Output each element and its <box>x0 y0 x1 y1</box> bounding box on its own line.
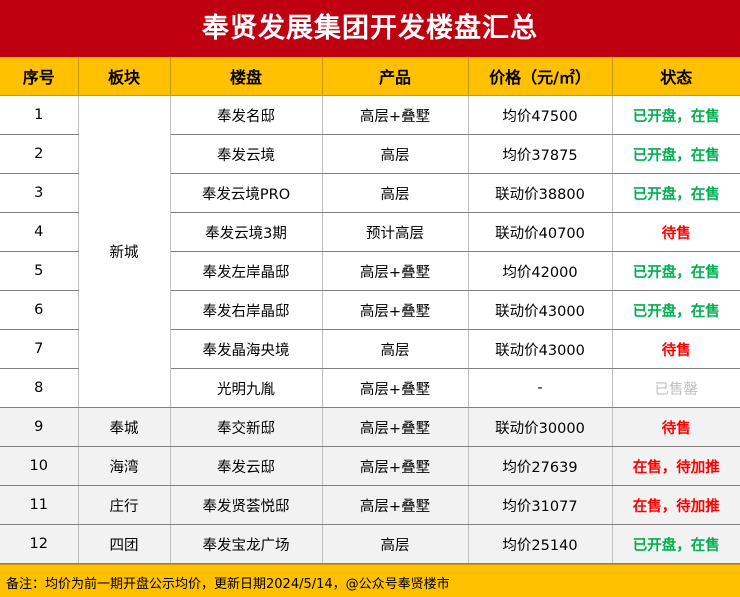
cell-index: 11 <box>0 486 78 525</box>
cell-product: 高层 <box>322 174 468 213</box>
cell-project: 奉发左岸晶邸 <box>170 252 322 291</box>
cell-index: 7 <box>0 330 78 369</box>
status-badge: 在售，待加推 <box>612 447 740 486</box>
column-header-block: 板块 <box>78 57 170 96</box>
cell-product: 高层+叠墅 <box>322 252 468 291</box>
cell-project: 奉发晶海央境 <box>170 330 322 369</box>
status-badge: 已开盘，在售 <box>612 135 740 174</box>
cell-product: 高层+叠墅 <box>322 291 468 330</box>
cell-project: 奉发云境PRO <box>170 174 322 213</box>
table-row: 9奉城奉交新邸高层+叠墅联动价30000待售 <box>0 408 740 447</box>
column-header-status: 状态 <box>612 57 740 96</box>
cell-block: 庄行 <box>78 486 170 525</box>
table-row: 10海湾奉发云邸高层+叠墅均价27639在售，待加推 <box>0 447 740 486</box>
cell-block: 四团 <box>78 525 170 564</box>
cell-project: 奉发宝龙广场 <box>170 525 322 564</box>
status-badge: 在售，待加推 <box>612 486 740 525</box>
cell-product: 高层+叠墅 <box>322 96 468 135</box>
cell-price: 联动价40700 <box>468 213 612 252</box>
status-badge: 已开盘，在售 <box>612 525 740 564</box>
status-badge: 已开盘，在售 <box>612 96 740 135</box>
table-row: 11庄行奉发贤荟悦邸高层+叠墅均价31077在售，待加推 <box>0 486 740 525</box>
cell-project: 光明九胤 <box>170 369 322 408</box>
cell-product: 预计高层 <box>322 213 468 252</box>
cell-price: 联动价43000 <box>468 291 612 330</box>
status-badge: 待售 <box>612 330 740 369</box>
status-badge: 已售罄 <box>612 369 740 408</box>
cell-product: 高层+叠墅 <box>322 486 468 525</box>
status-badge: 待售 <box>612 408 740 447</box>
cell-price: 均价31077 <box>468 486 612 525</box>
table-row: 12四团奉发宝龙广场高层均价25140已开盘，在售 <box>0 525 740 564</box>
status-badge: 已开盘，在售 <box>612 174 740 213</box>
header-row: 序号 板块 楼盘 产品 价格（元/㎡） 状态 <box>0 57 740 96</box>
cell-price: 均价42000 <box>468 252 612 291</box>
table-row: 1新城奉发名邸高层+叠墅均价47500已开盘，在售 <box>0 96 740 135</box>
cell-project: 奉发右岸晶邸 <box>170 291 322 330</box>
status-badge: 已开盘，在售 <box>612 291 740 330</box>
column-header-index: 序号 <box>0 57 78 96</box>
property-table: 序号 板块 楼盘 产品 价格（元/㎡） 状态 1新城奉发名邸高层+叠墅均价475… <box>0 57 740 564</box>
cell-index: 2 <box>0 135 78 174</box>
status-badge: 待售 <box>612 213 740 252</box>
cell-product: 高层+叠墅 <box>322 369 468 408</box>
cell-product: 高层+叠墅 <box>322 447 468 486</box>
status-badge: 已开盘，在售 <box>612 252 740 291</box>
cell-project: 奉发云邸 <box>170 447 322 486</box>
cell-product: 高层 <box>322 135 468 174</box>
cell-block-merged: 新城 <box>78 96 170 408</box>
cell-price: - <box>468 369 612 408</box>
page-title: 奉贤发展集团开发楼盘汇总 <box>202 15 538 42</box>
cell-price: 联动价38800 <box>468 174 612 213</box>
cell-block: 海湾 <box>78 447 170 486</box>
property-summary-sheet: 奉贤楼市 奉贤发展集团开发楼盘汇总 序号 板块 楼盘 产品 价格（元/㎡） 状态… <box>0 0 740 597</box>
cell-project: 奉发名邸 <box>170 96 322 135</box>
cell-index: 9 <box>0 408 78 447</box>
cell-index: 3 <box>0 174 78 213</box>
cell-index: 4 <box>0 213 78 252</box>
column-header-price: 价格（元/㎡） <box>468 57 612 96</box>
cell-price: 均价25140 <box>468 525 612 564</box>
cell-block: 奉城 <box>78 408 170 447</box>
footer-note-bar: 备注：均价为前一期开盘公示均价，更新日期2024/5/14，@公众号奉贤楼市 <box>0 564 740 597</box>
cell-project: 奉发贤荟悦邸 <box>170 486 322 525</box>
cell-project: 奉发云境3期 <box>170 213 322 252</box>
cell-price: 联动价43000 <box>468 330 612 369</box>
cell-project: 奉交新邸 <box>170 408 322 447</box>
cell-index: 10 <box>0 447 78 486</box>
cell-product: 高层 <box>322 525 468 564</box>
cell-price: 均价37875 <box>468 135 612 174</box>
column-header-product: 产品 <box>322 57 468 96</box>
cell-product: 高层 <box>322 330 468 369</box>
cell-product: 高层+叠墅 <box>322 408 468 447</box>
title-bar: 奉贤发展集团开发楼盘汇总 <box>0 0 740 57</box>
cell-price: 均价27639 <box>468 447 612 486</box>
cell-project: 奉发云境 <box>170 135 322 174</box>
cell-index: 8 <box>0 369 78 408</box>
table-header: 序号 板块 楼盘 产品 价格（元/㎡） 状态 <box>0 57 740 96</box>
table-body: 1新城奉发名邸高层+叠墅均价47500已开盘，在售2奉发云境高层均价37875已… <box>0 96 740 564</box>
cell-price: 联动价30000 <box>468 408 612 447</box>
footer-note: 备注：均价为前一期开盘公示均价，更新日期2024/5/14，@公众号奉贤楼市 <box>0 573 450 592</box>
cell-index: 5 <box>0 252 78 291</box>
cell-index: 6 <box>0 291 78 330</box>
cell-index: 1 <box>0 96 78 135</box>
cell-index: 12 <box>0 525 78 564</box>
column-header-project: 楼盘 <box>170 57 322 96</box>
cell-price: 均价47500 <box>468 96 612 135</box>
